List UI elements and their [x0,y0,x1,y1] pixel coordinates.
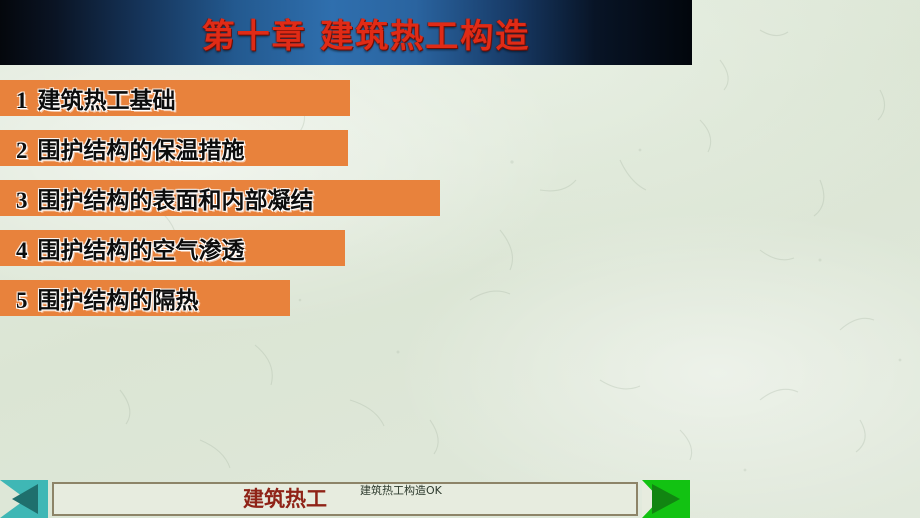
list-item-text: 建筑热工基础 [38,88,176,114]
list-item-number: 4 [16,238,28,263]
list-item[interactable]: 5围护结构的隔热 [0,280,290,316]
title-banner: 第十章 建筑热工构造 [0,0,692,65]
list-item-text: 围护结构的隔热 [38,288,199,314]
outline-list: 1建筑热工基础 2围护结构的保温措施 3围护结构的表面和内部凝结 4围护结构的空… [0,80,520,330]
previous-slide-button[interactable] [0,480,48,518]
list-item-number: 3 [16,188,28,213]
triangle-left-icon [0,480,48,518]
list-item-number: 5 [16,288,28,313]
list-item-text: 围护结构的表面和内部凝结 [38,188,314,214]
page-title: 第十章 建筑热工构造 [0,0,692,65]
list-item-label: 3围护结构的表面和内部凝结 [16,181,314,215]
footer-nav: 建筑热工 建筑热工构造OK [0,480,692,518]
list-item-number: 2 [16,138,28,163]
footer-title: 建筑热工 [243,483,327,513]
list-item-number: 1 [16,88,28,113]
presentation-slide: 第十章 建筑热工构造 1建筑热工基础 2围护结构的保温措施 3围护结构的表面和内… [0,0,920,518]
list-item[interactable]: 3围护结构的表面和内部凝结 [0,180,440,216]
list-item-text: 围护结构的保温措施 [38,138,245,164]
footer-note: 建筑热工构造OK [360,482,442,498]
footer-label-bar [52,482,638,516]
next-slide-button[interactable] [642,480,690,518]
list-item[interactable]: 4围护结构的空气渗透 [0,230,345,266]
list-item-label: 2围护结构的保温措施 [16,131,245,165]
list-item[interactable]: 2围护结构的保温措施 [0,130,348,166]
list-item-label: 1建筑热工基础 [16,81,176,115]
list-item[interactable]: 1建筑热工基础 [0,80,350,116]
list-item-label: 5围护结构的隔热 [16,281,199,315]
list-item-label: 4围护结构的空气渗透 [16,231,245,265]
list-item-text: 围护结构的空气渗透 [38,238,245,264]
triangle-right-icon [642,480,690,518]
